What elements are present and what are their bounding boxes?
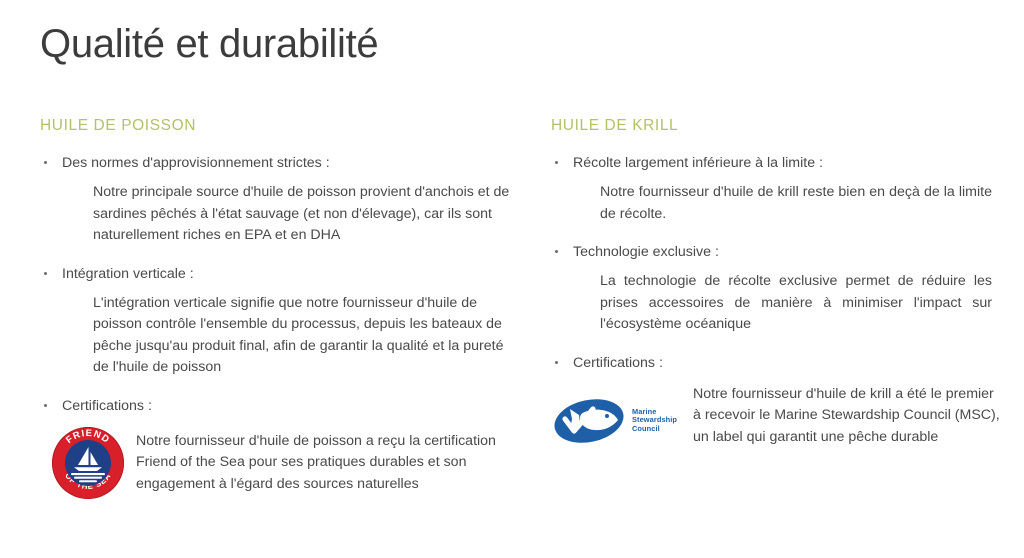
slide-canvas: Qualité et durabilité HUILE DE POISSON D… [0, 0, 1024, 558]
bullet-dot-icon [44, 404, 47, 407]
bullet-detail: Notre fournisseur d'huile de krill reste… [600, 182, 992, 225]
bullet-detail: Notre principale source d'huile de poiss… [93, 182, 510, 247]
certification-text-fish-oil: Notre fournisseur d'huile de poisson a r… [136, 427, 504, 496]
certification-text-krill-oil: Notre fournisseur d'huile de krill a été… [693, 384, 1001, 449]
bullet-dot-icon [44, 161, 47, 164]
bullet-label: Récolte largement inférieure à la limite… [573, 155, 823, 171]
column-heading-fish-oil: HUILE DE POISSON [40, 116, 510, 136]
msc-fish-check-icon [553, 398, 627, 444]
msc-wordmark: Marine Stewardship Council [632, 408, 677, 434]
list-item: Récolte largement inférieure à la limite… [551, 153, 1006, 173]
list-item: Certifications : [40, 396, 510, 416]
list-item: Des normes d'approvisionnement strictes … [40, 153, 510, 173]
bullet-label: Certifications : [62, 398, 152, 414]
list-item: Certifications : [551, 353, 1006, 373]
sailboat-icon [65, 440, 111, 486]
marine-stewardship-council-logo: Marine Stewardship Council [553, 384, 681, 444]
bullet-dot-icon [555, 250, 558, 253]
bullet-detail: L'intégration verticale signifie que not… [93, 293, 510, 379]
column-krill-oil: HUILE DE KRILL Récolte largement inférie… [551, 116, 1006, 448]
bullet-label: Intégration verticale : [62, 266, 194, 282]
msc-word-line-3: Council [632, 425, 677, 434]
column-fish-oil: HUILE DE POISSON Des normes d'approvisio… [40, 116, 510, 499]
bullet-dot-icon [555, 361, 558, 364]
bullet-dot-icon [44, 272, 47, 275]
list-item: Intégration verticale : [40, 264, 510, 284]
bullet-label: Des normes d'approvisionnement strictes … [62, 155, 330, 171]
column-heading-krill-oil: HUILE DE KRILL [551, 116, 1006, 136]
bullet-dot-icon [555, 161, 558, 164]
page-title: Qualité et durabilité [40, 18, 378, 70]
list-item: Technologie exclusive : [551, 242, 1006, 262]
certification-block-krill-oil: Marine Stewardship Council Notre fournis… [553, 384, 1006, 449]
friend-of-the-sea-logo: FRIEND OF THE SEA [52, 427, 124, 499]
bullet-label: Technologie exclusive : [573, 244, 719, 260]
certification-block-fish-oil: FRIEND OF THE SEA [52, 427, 510, 499]
bullet-label: Certifications : [573, 355, 663, 371]
bullet-detail: La technologie de récolte exclusive perm… [600, 271, 992, 336]
